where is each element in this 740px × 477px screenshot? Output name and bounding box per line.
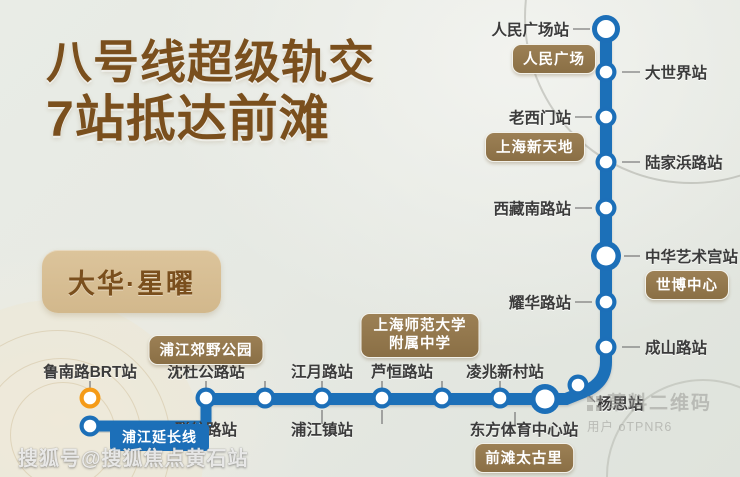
station-label-yangsi: 杨思站 (597, 392, 644, 414)
pill-shishida-line-1: 上海师范大学 (374, 318, 467, 334)
station-label-dashijie: 大世界站 (645, 61, 707, 83)
station-label-lunan-brt: 鲁南路BRT站 (43, 360, 137, 382)
station-label-jiangyue-lu: 江月路站 (291, 360, 353, 382)
station-label-lujiabang: 陆家浜路站 (645, 151, 723, 173)
metro-line-poster: 八号线超级轨交 7站抵达前滩 大华·星曜 (0, 0, 740, 477)
pill-shanghai-xintiandi: 上海新天地 (485, 132, 585, 162)
station-label-yaohua-lu: 耀华路站 (509, 291, 571, 313)
station-label-xizang-nanlu: 西藏南路站 (493, 197, 571, 219)
pill-renmin-guangchang: 人民广场 (512, 44, 596, 74)
pill-shishida-line-2: 附属中学 (389, 336, 451, 352)
station-label-pujiang-zhen: 浦江镇站 (291, 418, 353, 440)
station-label-laoximen: 老西门站 (509, 106, 571, 128)
pill-shibo-zhongxin: 世博中心 (645, 270, 729, 300)
station-label-zhonghua-yishugong: 中华艺术宫站 (645, 245, 738, 267)
pill-pujiang-jiaoye-gongyuan: 浦江郊野公园 (149, 335, 264, 365)
branch-tagline-pujiang-extension: 浦江延长线 (110, 424, 209, 451)
station-label-luheng-lu: 芦恒路站 (371, 360, 433, 382)
station-label-lingzhao-xincun: 凌兆新村站 (466, 360, 544, 382)
station-label-renmin-guangchang: 人民广场站 (491, 18, 569, 40)
station-label-dongfang-tiyu: 东方体育中心站 (470, 418, 579, 440)
station-label-chengshan-lu: 成山路站 (645, 336, 707, 358)
pill-qiantan-taikooli: 前滩太古里 (474, 443, 574, 473)
pill-shanghai-shifan-daxue: 上海师范大学 附属中学 (361, 313, 480, 358)
